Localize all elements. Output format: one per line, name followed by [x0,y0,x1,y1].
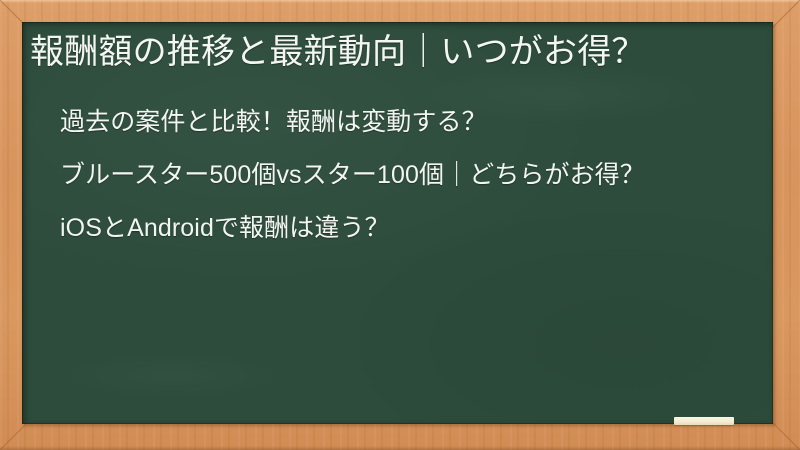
list-item: iOSとAndroidで報酬は違う？ [60,211,740,246]
chalkboard-surface: 報酬額の推移と最新動向｜いつがお得？ 過去の案件と比較！報酬は変動する？ ブルー… [22,22,773,424]
board-topic-list: 過去の案件と比較！報酬は変動する？ ブルースター500個vsスター100個｜どち… [30,105,757,246]
frame-top-highlight [0,0,800,3]
chalk-stick-icon [674,417,734,425]
blackboard-frame: 報酬額の推移と最新動向｜いつがお得？ 過去の案件と比較！報酬は変動する？ ブルー… [0,0,800,450]
board-title: 報酬額の推移と最新動向｜いつがお得？ [30,30,730,75]
list-item: ブルースター500個vsスター100個｜どちらがお得？ [60,158,740,193]
chalkboard-content: 報酬額の推移と最新動向｜いつがお得？ 過去の案件と比較！報酬は変動する？ ブルー… [22,22,773,246]
frame-bottom-shadow [0,446,800,450]
list-item: 過去の案件と比較！報酬は変動する？ [60,105,740,140]
